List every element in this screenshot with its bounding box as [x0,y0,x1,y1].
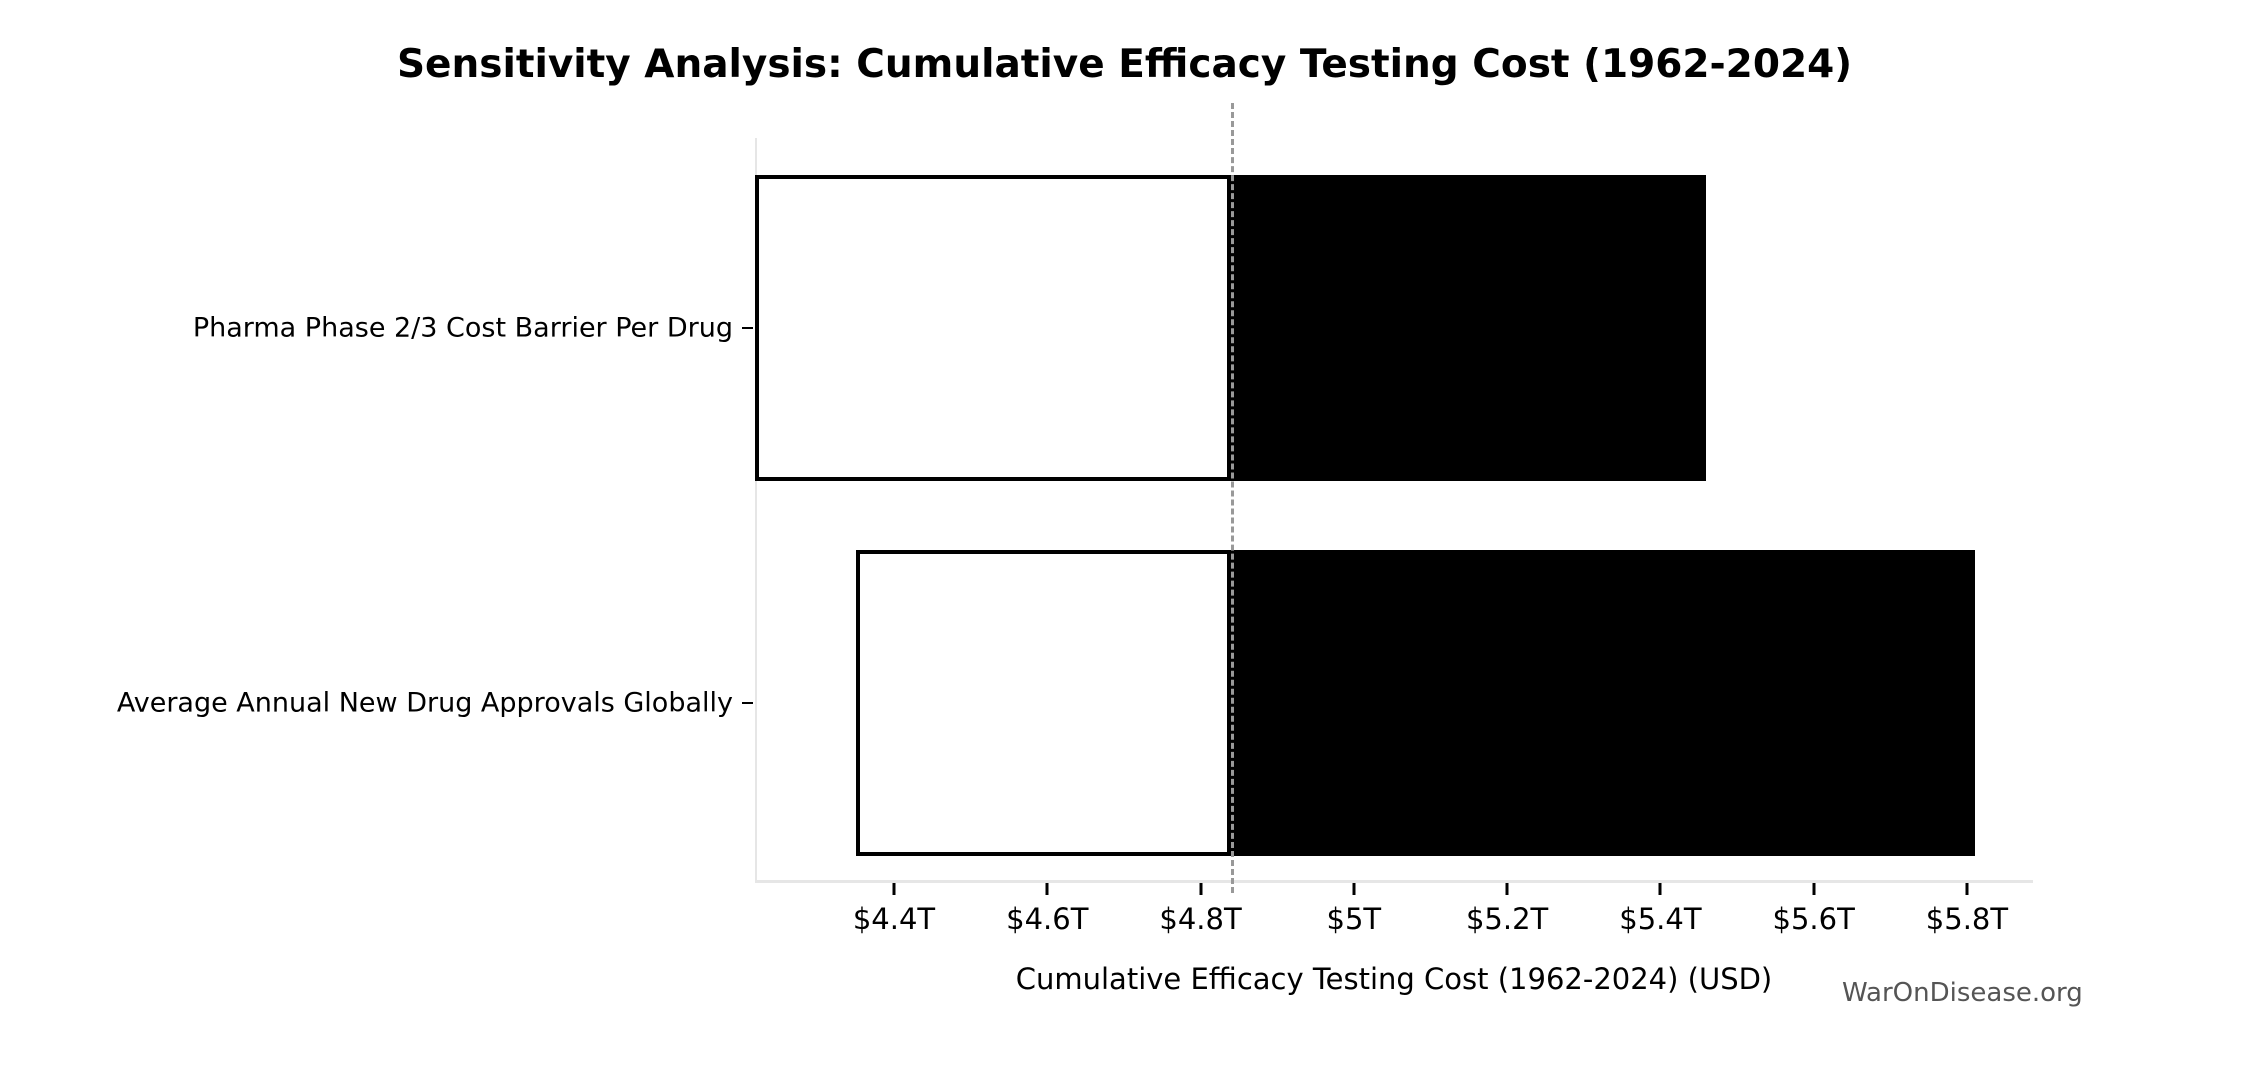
y-tick-label: Average Annual New Drug Approvals Global… [117,688,733,719]
x-tick-mark [893,883,896,895]
y-tick-label: Pharma Phase 2/3 Cost Barrier Per Drug [193,313,733,344]
plot-area [755,138,2033,883]
bar-segment-low[interactable] [755,175,1231,481]
x-tick-label: $5.8T [1926,902,2008,936]
x-tick-mark [1506,883,1509,895]
x-tick-mark [1352,883,1355,895]
x-axis-title: Cumulative Efficacy Testing Cost (1962-2… [1016,962,1773,996]
x-tick-label: $4.4T [853,902,935,936]
chart-title: Sensitivity Analysis: Cumulative Efficac… [0,42,2249,87]
baseline-marker [1231,103,1234,893]
x-tick-label: $5.4T [1619,902,1701,936]
watermark: WarOnDisease.org [1842,978,2083,1008]
x-tick-mark [1199,883,1202,895]
x-tick-mark [1965,883,1968,895]
bar-segment-low[interactable] [856,550,1232,856]
bar-segment-high[interactable] [1231,550,1974,856]
x-tick-mark [1046,883,1049,895]
sensitivity-chart-figure: Sensitivity Analysis: Cumulative Efficac… [0,0,2249,1075]
axis-spine-bottom [755,880,2033,883]
x-tick-mark [1659,883,1662,895]
x-tick-label: $4.6T [1006,902,1088,936]
x-tick-label: $5.2T [1466,902,1548,936]
x-tick-label: $4.8T [1159,902,1241,936]
y-tick-mark [742,702,753,704]
x-tick-label: $5T [1327,902,1382,936]
bar-segment-high[interactable] [1231,175,1706,481]
x-tick-label: $5.6T [1773,902,1855,936]
x-tick-mark [1812,883,1815,895]
y-tick-mark [742,327,753,329]
